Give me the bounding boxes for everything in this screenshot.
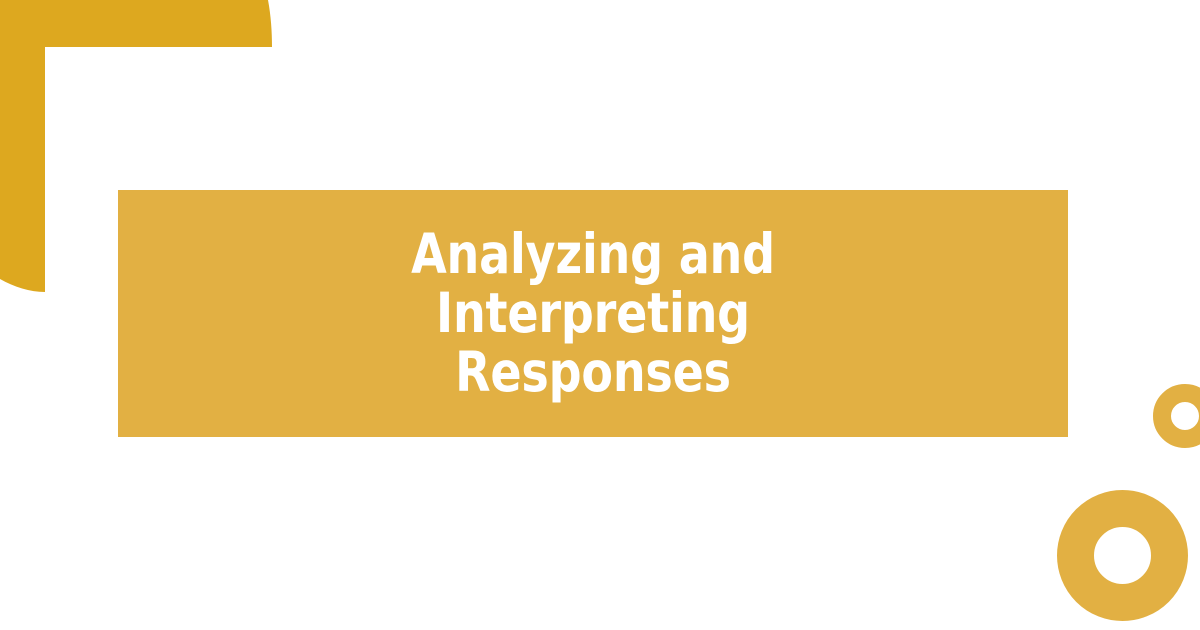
- title-banner: Analyzing and Interpreting Responses: [118, 190, 1068, 437]
- banner-canvas: Analyzing and Interpreting Responses: [0, 0, 1200, 630]
- ring-large-icon: [1057, 490, 1188, 621]
- page-title: Analyzing and Interpreting Responses: [268, 225, 919, 402]
- ring-small-icon: [1153, 384, 1200, 448]
